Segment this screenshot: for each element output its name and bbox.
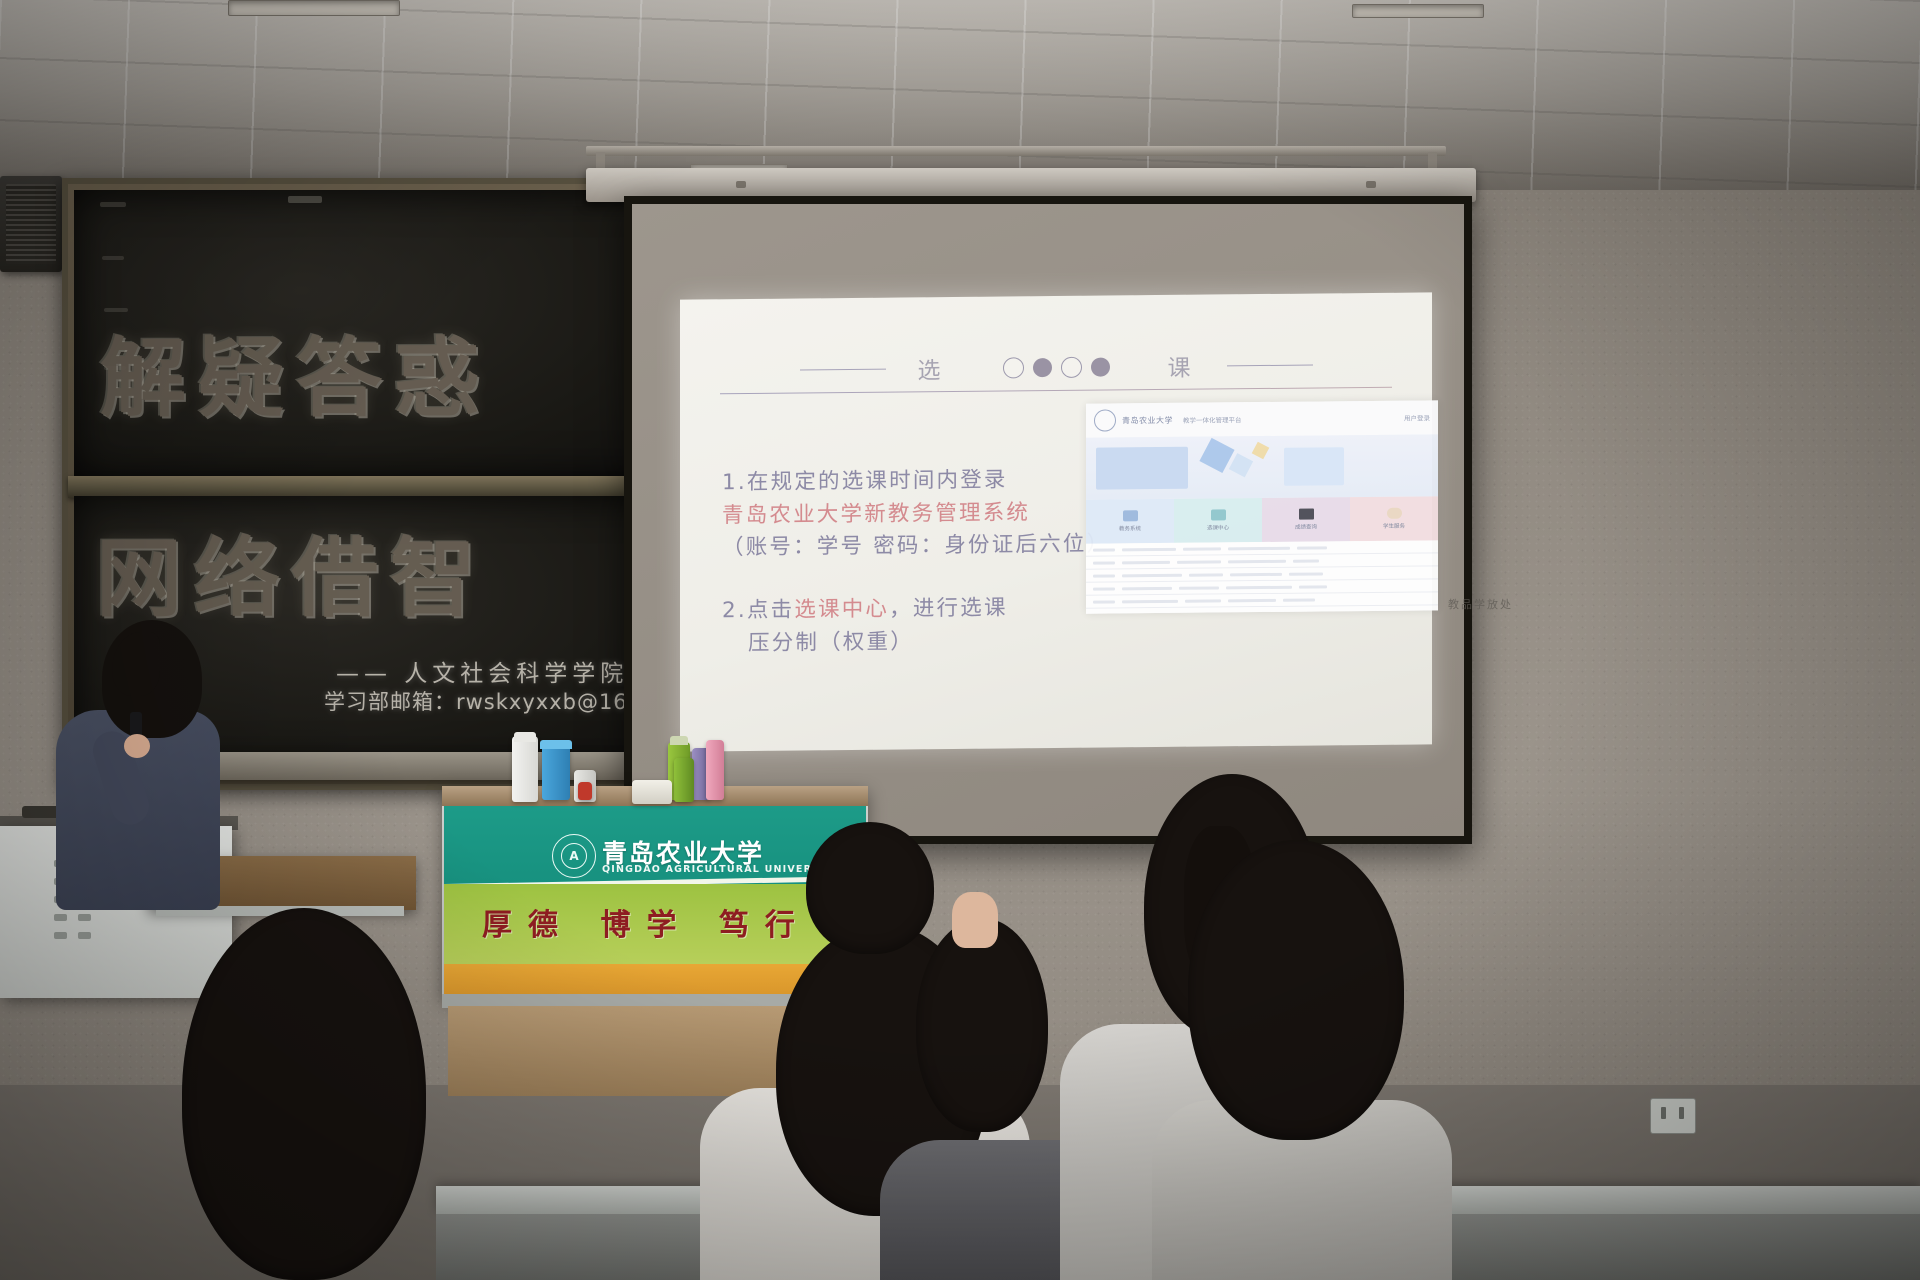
blackboard-attribution: —— 人文社会科学学院: [336, 654, 628, 688]
projector-screen-mount-bar: [586, 146, 1446, 156]
wall-power-socket[interactable]: [1650, 1098, 1696, 1134]
blackboard-upper-panel: 解疑答惑: [74, 190, 674, 478]
white-bottle-cap: [514, 732, 536, 742]
university-name-en: QINGDAO AGRICULTURAL UNIVERSITY: [602, 864, 841, 875]
screenshot-login-label: 用户登录: [1404, 412, 1430, 422]
lectern-vent: [54, 932, 67, 939]
cloud-icon: [1387, 508, 1402, 519]
chalk-smudge-a: [100, 202, 126, 207]
slide-title-right: 课: [1168, 349, 1195, 383]
blue-cup-lid: [540, 740, 572, 749]
student-head-center-right: [916, 918, 1048, 1132]
case-screw-left: [736, 181, 746, 188]
student-head-front-left: [182, 908, 426, 1280]
ceiling-lamp-right: [1352, 4, 1484, 18]
chalk-smudge-b: [102, 256, 124, 260]
screenshot-tile-4: 学生服务: [1350, 496, 1438, 541]
lectern-vent: [54, 914, 67, 921]
wall-sign: 教品学放处: [1448, 596, 1513, 612]
paper-pack: [632, 780, 672, 804]
student-head-far-right: [1188, 840, 1404, 1140]
tile-label-1: 教务系统: [1119, 524, 1141, 532]
hero-kite-2: [1229, 453, 1253, 477]
pink-bottle: [706, 740, 724, 800]
screenshot-tile-2: 选课中心: [1174, 498, 1262, 543]
progress-dot-2: [1033, 358, 1052, 377]
ceiling-shading: [0, 0, 1920, 195]
lectern-vent: [78, 932, 91, 939]
socket-slot-left: [1661, 1107, 1666, 1119]
classroom-photo: 解疑答惑 网络借智 —— 人文社会科学学院 学习部邮箱：rwskxyxxb@16…: [0, 0, 1920, 1280]
slide-item-5: 压分制（权重）: [722, 624, 1152, 661]
lectern-vent: [78, 914, 91, 921]
student-hand-raised: [952, 892, 998, 948]
projection-screen: 选 课 1.在规定的选课时间内登录 青岛农业大学新教务管理系: [624, 196, 1472, 844]
screenshot-tile-row: 教务系统 选课中心 成绩查询: [1086, 496, 1438, 543]
screenshot-table: [1086, 540, 1438, 613]
slide-item-4-prefix: 2.点击: [722, 598, 794, 624]
screenshot-site-subtitle: 教学一体化管理平台: [1183, 414, 1242, 425]
progress-dot-3: [1061, 356, 1082, 377]
slide-title-left: 选: [918, 351, 945, 385]
progress-dot-1: [1003, 357, 1024, 378]
title-rule-left: [800, 368, 886, 370]
tile-icon-2: [1211, 509, 1226, 520]
slide-title-row: 选 课: [680, 344, 1432, 389]
screenshot-tile-3: 成绩查询: [1262, 497, 1350, 542]
slide-item-4-highlight: 选课中心: [794, 597, 889, 623]
hero-kite-3: [1252, 442, 1270, 460]
ceiling: [0, 0, 1920, 195]
podium: A 青岛农业大学 QINGDAO AGRICULTURAL UNIVERSITY…: [442, 786, 868, 998]
case-screw-right: [1366, 181, 1376, 188]
projected-slide: 选 课 1.在规定的选课时间内登录 青岛农业大学新教务管理系: [680, 292, 1432, 751]
socket-slot-right: [1679, 1107, 1684, 1119]
hero-card-2: [1284, 447, 1344, 486]
hero-card-1: [1096, 447, 1188, 490]
blackboard-center-rail: [68, 476, 680, 498]
crest-letter: A: [561, 843, 587, 869]
student-head-center-small: [806, 822, 934, 954]
screenshot-site-title: 青岛农业大学: [1122, 414, 1173, 425]
university-banner: A 青岛农业大学 QINGDAO AGRICULTURAL UNIVERSITY…: [444, 806, 866, 998]
slide-embedded-screenshot: 青岛农业大学 教学一体化管理平台 用户登录: [1086, 400, 1438, 613]
screenshot-tile-1: 教务系统: [1086, 499, 1174, 544]
university-logo-icon: [1094, 409, 1116, 431]
green-bottle-2: [674, 758, 694, 802]
speaker-grille: [6, 184, 56, 264]
presenter: [28, 612, 238, 912]
table-row: [1086, 592, 1438, 608]
presenter-hand: [124, 734, 150, 758]
tile-icon-1: [1123, 510, 1138, 521]
title-rule-right: [1227, 364, 1313, 366]
tile-label-4: 学生服务: [1383, 522, 1405, 530]
white-bottle: [512, 736, 538, 802]
blue-cup: [542, 744, 570, 800]
university-crest-icon: A: [552, 834, 596, 878]
slide-progress-dots: [1003, 356, 1110, 378]
tile-label-2: 选课中心: [1207, 523, 1229, 531]
slide-item-4-suffix: ，进行选课: [889, 595, 1008, 621]
red-item: [578, 782, 592, 800]
wall-speaker: [0, 176, 62, 272]
ceiling-lamp-left: [228, 0, 400, 16]
screenshot-hero: [1086, 434, 1438, 499]
tile-label-3: 成绩查询: [1295, 522, 1317, 530]
screenshot-header: 青岛农业大学 教学一体化管理平台 用户登录: [1086, 400, 1438, 437]
screen-surface: 选 课 1.在规定的选课时间内登录 青岛农业大学新教务管理系: [632, 204, 1464, 836]
chalk-smudge-e: [288, 196, 322, 203]
blackboard-headline-1: 解疑答惑: [100, 308, 492, 433]
progress-dot-4: [1091, 357, 1110, 376]
green-bottle-1-cap: [670, 736, 688, 745]
graduation-cap-icon: [1299, 509, 1314, 520]
